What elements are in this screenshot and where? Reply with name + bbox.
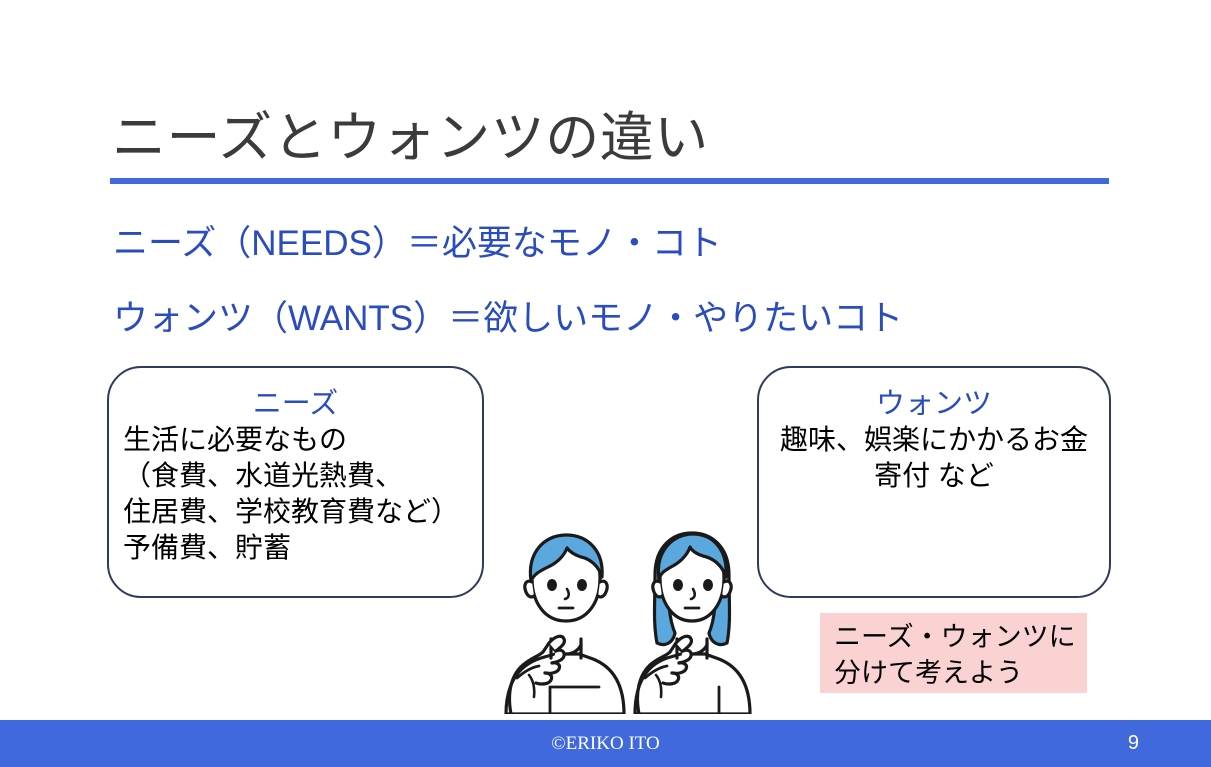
needs-line: 住居費、学校教育費など） (123, 494, 482, 530)
wants-box-body: 趣味、娯楽にかかるお金 寄付 など (759, 422, 1109, 494)
slide-canvas: ニーズとウォンツの違い ニーズ（NEEDS）＝必要なモノ・コト ウォンツ（WAN… (0, 0, 1211, 767)
needs-box-heading: ニーズ (109, 386, 482, 422)
needs-line: （食費、水道光熱費、 (123, 458, 482, 494)
wants-line: 寄付 など (759, 458, 1109, 494)
footer-copyright: ©ERIKO ITO (0, 720, 1211, 767)
callout-line: ニーズ・ウォンツに (834, 619, 1087, 655)
wants-line: 趣味、娯楽にかかるお金 (759, 422, 1109, 458)
page-title: ニーズとウォンツの違い (112, 104, 1112, 172)
definition-wants: ウォンツ（WANTS）＝欲しいモノ・やりたいコト (113, 297, 903, 341)
definition-needs: ニーズ（NEEDS）＝必要なモノ・コト (113, 222, 722, 266)
needs-line: 予備費、貯蓄 (123, 530, 482, 566)
needs-line: 生活に必要なもの (123, 422, 482, 458)
wants-box: ウォンツ 趣味、娯楽にかかるお金 寄付 など (757, 366, 1111, 598)
title-underline-rule (110, 178, 1109, 184)
wants-box-heading: ウォンツ (759, 386, 1109, 422)
needs-box: ニーズ 生活に必要なもの （食費、水道光熱費、 住居費、学校教育費など） 予備費… (107, 366, 484, 598)
needs-box-body: 生活に必要なもの （食費、水道光熱費、 住居費、学校教育費など） 予備費、貯蓄 (109, 422, 482, 566)
footer-page-number: 9 (1128, 720, 1139, 767)
two-thinking-people-illustration (487, 515, 757, 714)
slide-footer-bar: ©ERIKO ITO 9 (0, 720, 1211, 767)
callout-line: 分けて考えよう (834, 655, 1087, 691)
callout-highlight: ニーズ・ウォンツに 分けて考えよう (820, 613, 1087, 693)
